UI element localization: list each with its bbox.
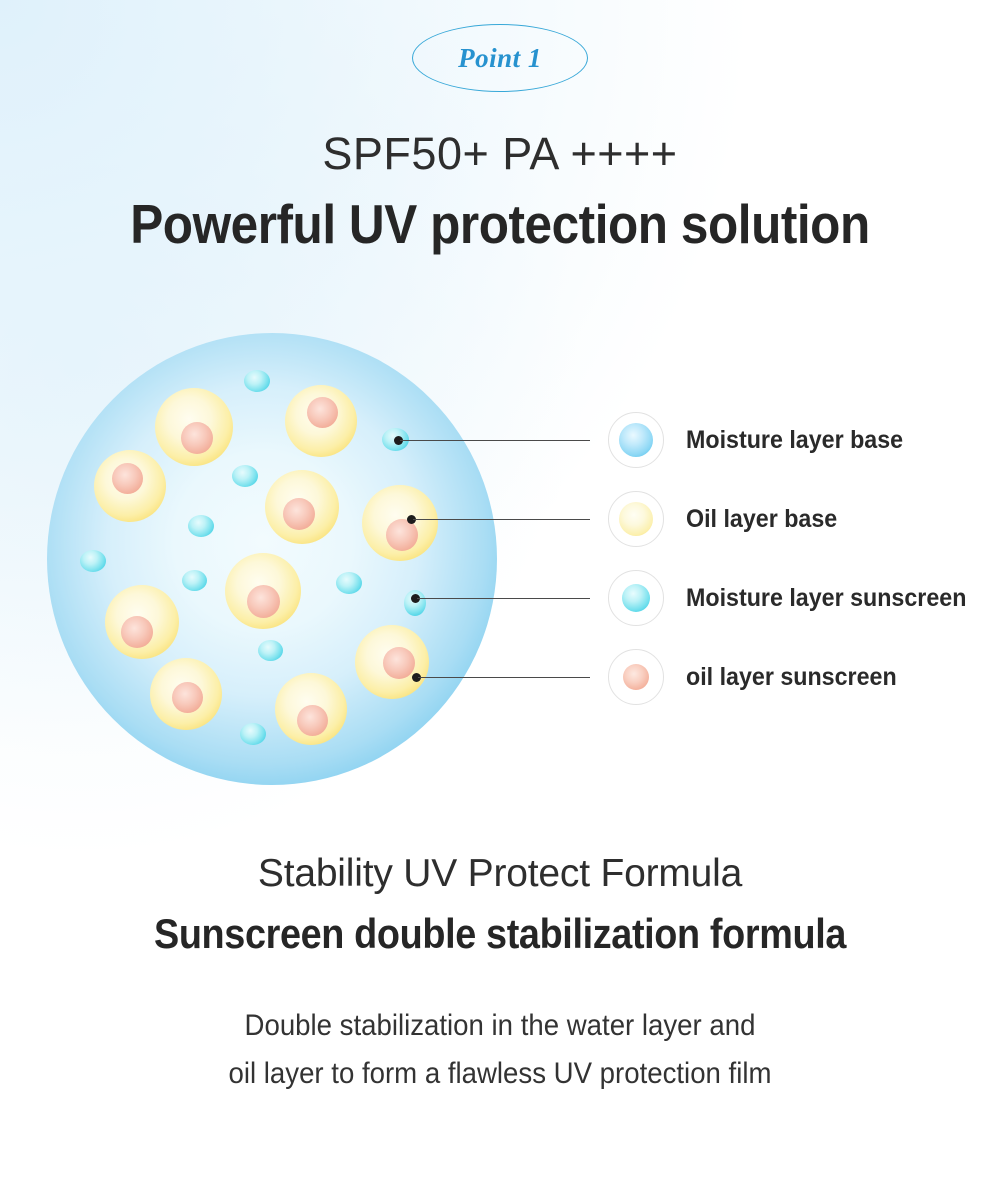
- moisture-droplet: [244, 370, 270, 392]
- moisture-droplet: [336, 572, 362, 594]
- legend-label: Oil layer base: [686, 505, 837, 534]
- oil-droplet: [155, 388, 233, 466]
- point-badge-label: Point 1: [458, 43, 542, 74]
- moisture-droplet: [240, 723, 266, 745]
- leader-line-moisture-base: [400, 440, 590, 441]
- leader-line-oil-base: [413, 519, 590, 520]
- footer-title: Stability UV Protect Formula: [0, 852, 1000, 896]
- leader-line-moisture-sunscreen: [417, 598, 590, 599]
- oil-core: [307, 397, 338, 428]
- moisture-layer-base-swatch: [608, 412, 664, 468]
- footer-subtitle: Sunscreen double stabilization formula: [50, 910, 950, 958]
- oil-droplet: [225, 553, 301, 629]
- oil-core: [121, 616, 153, 648]
- oil-layer-base-swatch: [608, 491, 664, 547]
- oil-core: [181, 422, 213, 454]
- legend-label: Moisture layer base: [686, 426, 903, 455]
- oil-core: [383, 647, 415, 679]
- legend-label: oil layer sunscreen: [686, 663, 897, 692]
- moisture-droplet: [182, 570, 207, 591]
- oil-droplet: [285, 385, 357, 457]
- point-badge: Point 1: [412, 24, 588, 92]
- oil-core: [112, 463, 143, 494]
- oil-core: [386, 519, 418, 551]
- oil-droplet: [94, 450, 166, 522]
- oil-droplet: [150, 658, 222, 730]
- page-title: Powerful UV protection solution: [50, 192, 950, 256]
- oil-droplet: [265, 470, 339, 544]
- moisture-droplet: [232, 465, 258, 487]
- moisture-droplet: [188, 515, 214, 537]
- moisture-droplet: [258, 640, 283, 661]
- oil-core: [247, 585, 280, 618]
- legend-item-moisture-layer-sunscreen[interactable]: Moisture layer sunscreen: [608, 570, 988, 626]
- legend-item-oil-layer-sunscreen[interactable]: oil layer sunscreen: [608, 649, 913, 705]
- legend-label: Moisture layer sunscreen: [686, 584, 966, 613]
- oil-core: [297, 705, 328, 736]
- footer-description-line-1: Double stabilization in the water layer …: [40, 1002, 960, 1050]
- oil-core: [172, 682, 203, 713]
- oil-droplet: [105, 585, 179, 659]
- oil-layer-sunscreen-swatch: [608, 649, 664, 705]
- legend-item-moisture-layer-base[interactable]: Moisture layer base: [608, 412, 919, 468]
- moisture-layer-sunscreen-swatch: [608, 570, 664, 626]
- legend-item-oil-layer-base[interactable]: Oil layer base: [608, 491, 849, 547]
- emulsion-sphere-diagram: Moisture layer base Oil layer base Moist…: [0, 300, 1000, 820]
- footer-description-line-2: oil layer to form a flawless UV protecti…: [40, 1050, 960, 1098]
- oil-core: [283, 498, 315, 530]
- moisture-droplet: [80, 550, 106, 572]
- footer-description: Double stabilization in the water layer …: [40, 1002, 960, 1098]
- spf-rating-text: SPF50+ PA ++++: [0, 128, 1000, 180]
- oil-droplet: [355, 625, 429, 699]
- leader-line-oil-sunscreen: [418, 677, 590, 678]
- oil-droplet: [275, 673, 347, 745]
- oil-droplet: [362, 485, 438, 561]
